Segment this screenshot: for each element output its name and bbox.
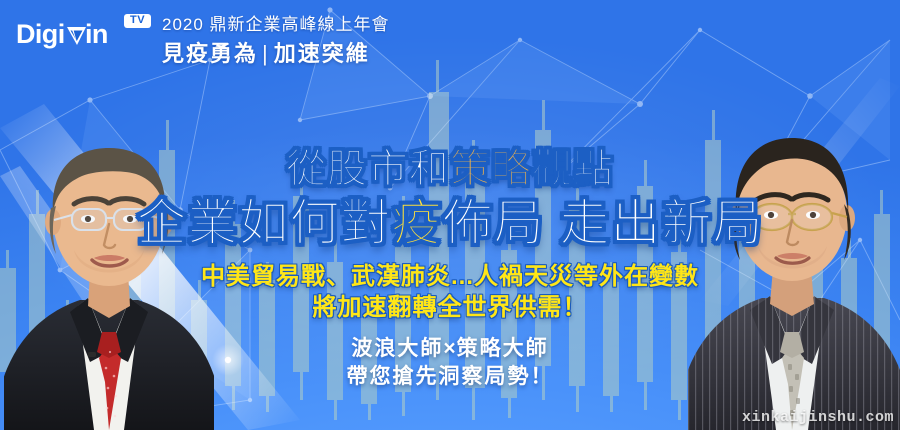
site-watermark: xinkaijinshu.com — [742, 409, 894, 426]
subtitle-line2: 將加速翻轉全世界供需！ — [0, 292, 900, 323]
event-slogan-right: 加速突維 — [274, 41, 370, 66]
event-slogan-divider: | — [258, 41, 274, 66]
footer-x-separator: × — [443, 337, 456, 360]
event-header-line2: 見疫勇為|加速突維 — [162, 39, 390, 69]
headline-line2: 企業如何對疫佈局 走出新局 — [0, 194, 900, 252]
subtitle-block: 中美貿易戰、武漢肺炎...人禍天災等外在變數 將加速翻轉全世界供需！ — [0, 261, 900, 323]
headline-line1: 從股市和策略觀點 — [0, 146, 900, 192]
svg-text:in: in — [85, 19, 108, 49]
digiwin-wordmark: Digi in — [16, 18, 120, 50]
event-slogan-left: 見疫勇為 — [162, 41, 258, 66]
promo-banner: Digi in TV 2020 鼎新企業高峰線上年會 見疫勇為|加速突維 從股市… — [0, 0, 900, 430]
headline-line1-highlight: 策略 — [450, 147, 532, 191]
svg-text:Digi: Digi — [16, 19, 65, 49]
headline-line2-part1: 企業如何對 — [137, 195, 392, 251]
subtitle-line1: 中美貿易戰、武漢肺炎...人禍天災等外在變數 — [0, 261, 900, 292]
event-header: 2020 鼎新企業高峰線上年會 見疫勇為|加速突維 — [162, 14, 390, 69]
footer-speaker-left: 波浪大師 — [351, 337, 443, 360]
headline-line1-part1: 從股市和 — [286, 147, 450, 191]
footer-speaker-right: 策略大師 — [457, 337, 549, 360]
headline-line1-part2: 觀點 — [532, 147, 614, 191]
digiwin-logo[interactable]: Digi in TV — [16, 18, 151, 50]
headline-line2-part2: 佈局 走出新局 — [443, 195, 764, 251]
tv-badge: TV — [124, 14, 151, 28]
headline-line2-highlight: 疫 — [392, 195, 443, 251]
main-copy: 從股市和策略觀點 企業如何對疫佈局 走出新局 中美貿易戰、武漢肺炎...人禍天災… — [0, 146, 900, 391]
footer-line1: 波浪大師×策略大師 — [0, 335, 900, 363]
event-header-line1: 2020 鼎新企業高峰線上年會 — [162, 14, 390, 36]
footer-line2: 帶您搶先洞察局勢！ — [0, 363, 900, 391]
footer-block: 波浪大師×策略大師 帶您搶先洞察局勢！ — [0, 335, 900, 391]
